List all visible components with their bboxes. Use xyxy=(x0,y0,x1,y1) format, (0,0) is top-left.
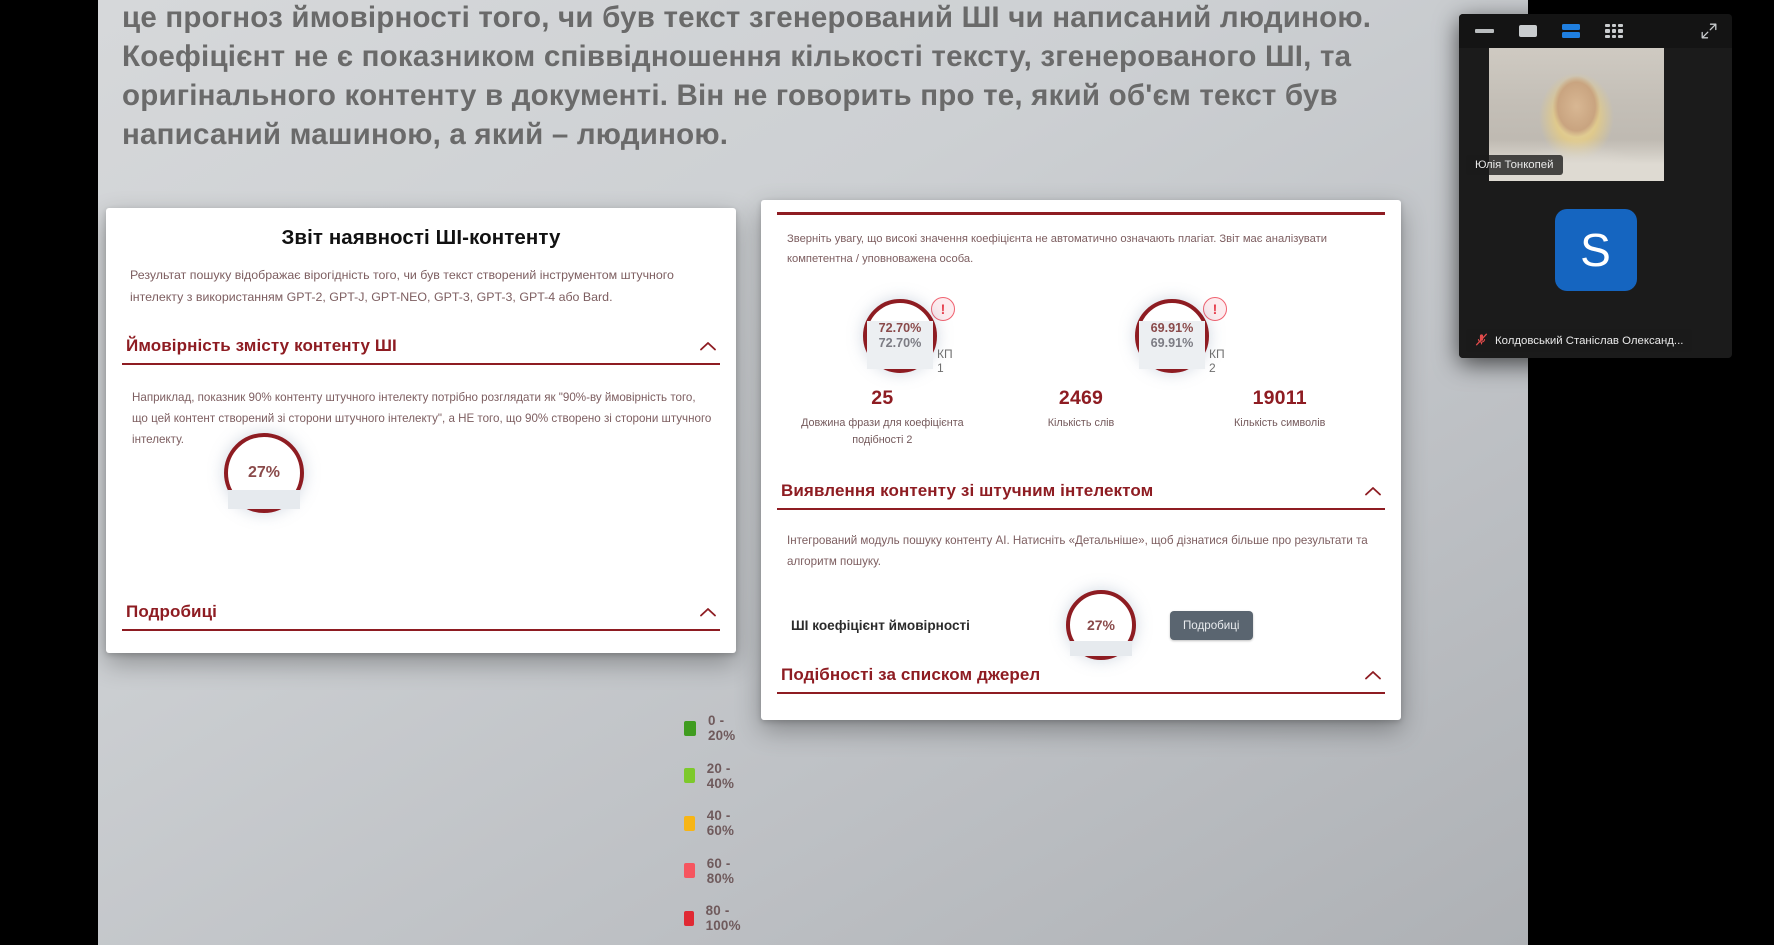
left-card-intro: Результат пошуку відображає вірогідність… xyxy=(130,264,712,308)
slide-text-line-3: оригінального контенту в документі. Він … xyxy=(122,76,1452,115)
mic-muted-icon xyxy=(1475,333,1488,348)
gauge-value: 27% xyxy=(248,464,280,482)
screen-root: це прогноз ймовірності того, чи був текс… xyxy=(0,0,1774,945)
ai-coefficient-value: 27% xyxy=(1087,617,1115,633)
participant-1-name-tag: Юлія Тонкопей xyxy=(1466,155,1563,175)
stat-phrase-length-label: Довжина фрази для коефіцієнта подібності… xyxy=(783,415,982,449)
legend-label-20-40: 20 - 40% xyxy=(707,761,746,791)
coefficient-1-label: КП 1 xyxy=(937,347,955,375)
avatar: S xyxy=(1555,209,1637,291)
legend-item: 20 - 40% xyxy=(684,761,746,791)
ai-coefficient-gauge: 27% xyxy=(1066,590,1136,660)
similarity-report-card: Зверніть увагу, що високі значення коефі… xyxy=(761,200,1401,720)
participant-1-name: Юлія Тонкопей xyxy=(1475,159,1554,171)
stat-word-count-number: 2469 xyxy=(982,387,1181,410)
warning-icon[interactable]: ! xyxy=(1203,297,1227,321)
coefficient-2-value-secondary: 69.91% xyxy=(1151,336,1194,351)
slide-text-line-1: це прогноз ймовірності того, чи був текс… xyxy=(122,0,1452,37)
legend-item: 40 - 60% xyxy=(684,808,746,838)
legend-swatch-80-100 xyxy=(684,911,694,926)
left-card-title: Звіт наявності ШІ-контенту xyxy=(106,226,736,250)
legend-label-80-100: 80 - 100% xyxy=(706,903,746,933)
expand-icon[interactable] xyxy=(1700,22,1718,40)
section-ai-probability[interactable]: Ймовірність змісту контенту ШІ xyxy=(120,326,722,373)
ai-content-report-card: Звіт наявності ШІ-контенту Результат пош… xyxy=(106,208,736,653)
zoom-window-toolbar xyxy=(1459,14,1732,48)
card-top-divider xyxy=(777,212,1385,215)
slide-text-line-2: Коефіцієнт не є показником співвідношенн… xyxy=(122,37,1452,76)
stat-word-count-label: Кількість слів xyxy=(982,415,1181,432)
similarity-note: Зверніть увагу, що високі значення коефі… xyxy=(787,229,1375,269)
legend-item: 0 - 20% xyxy=(684,713,746,743)
gauge-fill xyxy=(1070,641,1132,657)
gauge-fill xyxy=(228,490,300,509)
legend-label-40-60: 40 - 60% xyxy=(707,808,746,838)
ai-probability-gauge: 27% xyxy=(224,433,304,513)
ai-probability-gauge-wrap: 27% xyxy=(224,433,304,513)
section-ai-detection-title: Виявлення контенту зі штучним інтелектом xyxy=(781,481,1153,501)
participant-2-name-tag: Колдовський Станіслав Олександ... xyxy=(1466,329,1692,352)
section-ai-probability-title: Ймовірність змісту контенту ШІ xyxy=(126,336,397,356)
legend-label-60-80: 60 - 80% xyxy=(707,856,746,886)
zoom-floating-window[interactable]: Юлія Тонкопей S Колдовський Станіслав Ол… xyxy=(1459,14,1732,358)
section-source-similarities-title: Подібності за списком джерел xyxy=(781,665,1040,685)
participant-tile-1[interactable]: Юлія Тонкопей xyxy=(1459,48,1732,181)
window-icon[interactable] xyxy=(1519,25,1537,37)
probability-legend: 0 - 20% 20 - 40% 40 - 60% 60 - 80% 80 - … xyxy=(684,713,746,945)
section-ai-detection-body: Інтегрований модуль пошуку контенту AI. … xyxy=(787,530,1377,572)
minimize-icon[interactable] xyxy=(1475,29,1494,33)
coefficient-2-label: КП 2 xyxy=(1209,347,1227,375)
gallery-view-icon[interactable] xyxy=(1605,24,1623,38)
coefficient-1: 72.70% 72.70% ! КП 1 xyxy=(863,299,955,373)
ai-coefficient-label: ШІ коефіцієнт ймовірності xyxy=(791,618,970,633)
section-ai-probability-body: Наприклад, показник 90% контенту штучног… xyxy=(132,387,712,450)
section-divider xyxy=(777,692,1385,694)
slide-body-text: це прогноз ймовірності того, чи був текс… xyxy=(122,0,1452,154)
chevron-up-icon[interactable] xyxy=(1365,670,1381,680)
stat-char-count: 19011 Кількість символів xyxy=(1180,387,1379,449)
document-statistics: 25 Довжина фрази для коефіцієнта подібно… xyxy=(783,387,1379,449)
legend-item: 80 - 100% xyxy=(684,903,746,933)
legend-swatch-20-40 xyxy=(684,768,695,783)
ai-coefficient-row: ШІ коефіцієнт ймовірності 27% Подробиці xyxy=(761,590,1401,660)
coefficient-1-gauge: 72.70% 72.70% xyxy=(863,299,937,373)
section-divider xyxy=(777,508,1385,510)
section-divider xyxy=(122,363,720,365)
section-details[interactable]: Подробиці xyxy=(120,592,722,639)
stat-char-count-number: 19011 xyxy=(1180,387,1379,410)
section-ai-detection[interactable]: Виявлення контенту зі штучним інтелектом xyxy=(775,471,1387,518)
stat-word-count: 2469 Кількість слів xyxy=(982,387,1181,449)
coefficient-2: 69.91% 69.91% ! КП 2 xyxy=(1135,299,1227,373)
legend-swatch-0-20 xyxy=(684,721,696,736)
warning-icon[interactable]: ! xyxy=(931,297,955,321)
chevron-up-icon[interactable] xyxy=(700,341,716,351)
details-button[interactable]: Подробиці xyxy=(1170,611,1253,640)
coefficient-2-gauge: 69.91% 69.91% xyxy=(1135,299,1209,373)
participant-tile-2[interactable]: S Колдовський Станіслав Олександ... xyxy=(1459,181,1732,358)
stat-char-count-label: Кількість символів xyxy=(1180,415,1379,432)
chevron-up-icon[interactable] xyxy=(1365,486,1381,496)
split-view-icon[interactable] xyxy=(1562,24,1580,38)
section-details-title: Подробиці xyxy=(126,602,217,622)
presentation-slide: це прогноз ймовірності того, чи був текс… xyxy=(98,0,1528,945)
stat-phrase-length-number: 25 xyxy=(783,387,982,410)
slide-text-line-4: написаний машиною, а який – людиною. xyxy=(122,115,1452,154)
participant-2-name: Колдовський Станіслав Олександ... xyxy=(1495,335,1683,347)
coefficient-2-value: 69.91% xyxy=(1151,321,1194,336)
coefficient-1-value: 72.70% xyxy=(879,321,922,336)
section-divider xyxy=(122,629,720,631)
legend-swatch-40-60 xyxy=(684,816,695,831)
section-source-similarities[interactable]: Подібності за списком джерел xyxy=(775,655,1387,702)
coefficient-row: 72.70% 72.70% ! КП 1 69.91% 69.91% ! КП … xyxy=(761,275,1401,385)
stat-phrase-length: 25 Довжина фрази для коефіцієнта подібно… xyxy=(783,387,982,449)
legend-swatch-60-80 xyxy=(684,863,695,878)
chevron-up-icon[interactable] xyxy=(700,607,716,617)
coefficient-1-value-secondary: 72.70% xyxy=(879,336,922,351)
legend-label-0-20: 0 - 20% xyxy=(708,713,746,743)
legend-item: 60 - 80% xyxy=(684,856,746,886)
